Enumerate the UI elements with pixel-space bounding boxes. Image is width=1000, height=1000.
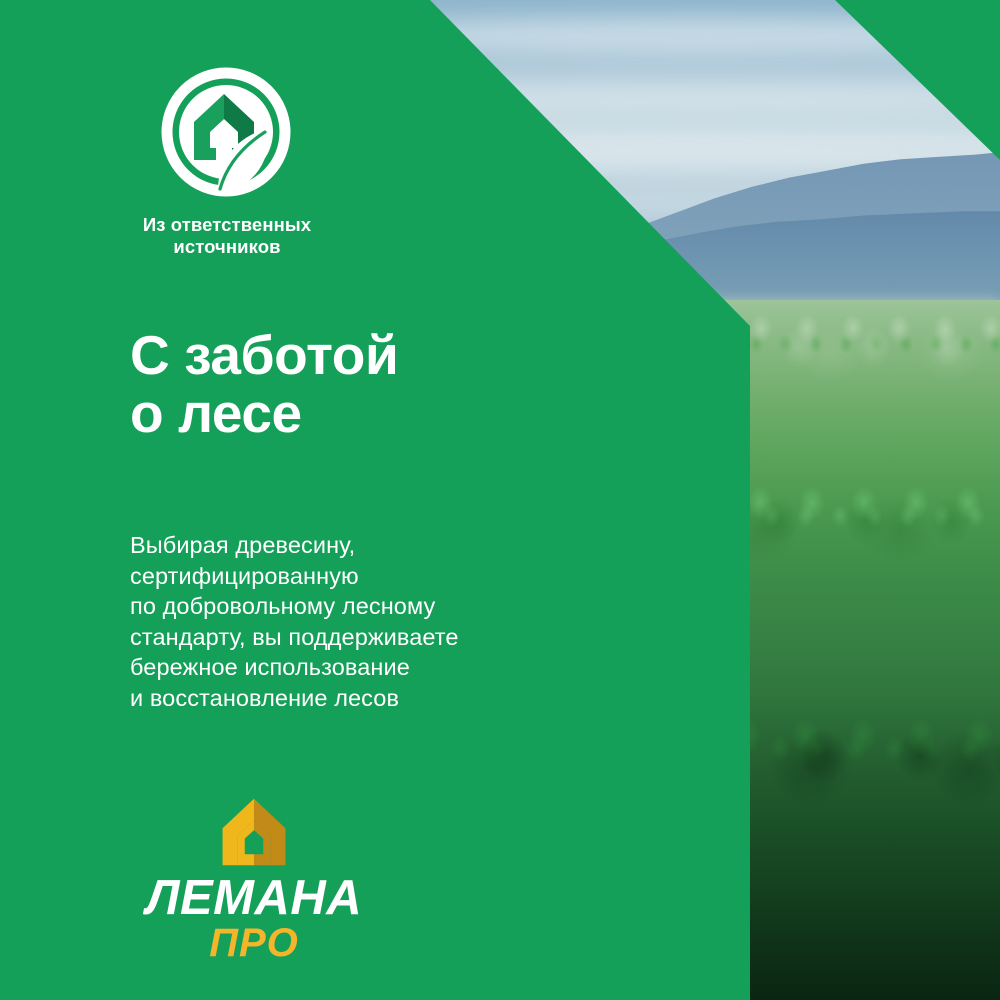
certification-block: Из ответственных источников — [130, 62, 390, 258]
brand-name: ЛЕМАНА — [134, 875, 374, 922]
brand-suffix: ПРО — [134, 923, 374, 963]
house-leaf-circle-icon — [156, 62, 296, 202]
brand-logo: ЛЕМАНА ПРО — [134, 795, 374, 963]
page-title: С заботой о лесе — [130, 326, 398, 443]
content-area: Из ответственных источников С заботой о … — [0, 0, 1000, 1000]
certification-caption: Из ответственных источников — [122, 214, 332, 258]
body-paragraph: Выбирая древесину, сертифицированную по … — [130, 530, 459, 713]
lemana-house-icon — [217, 795, 291, 869]
poster: Из ответственных источников С заботой о … — [0, 0, 1000, 1000]
